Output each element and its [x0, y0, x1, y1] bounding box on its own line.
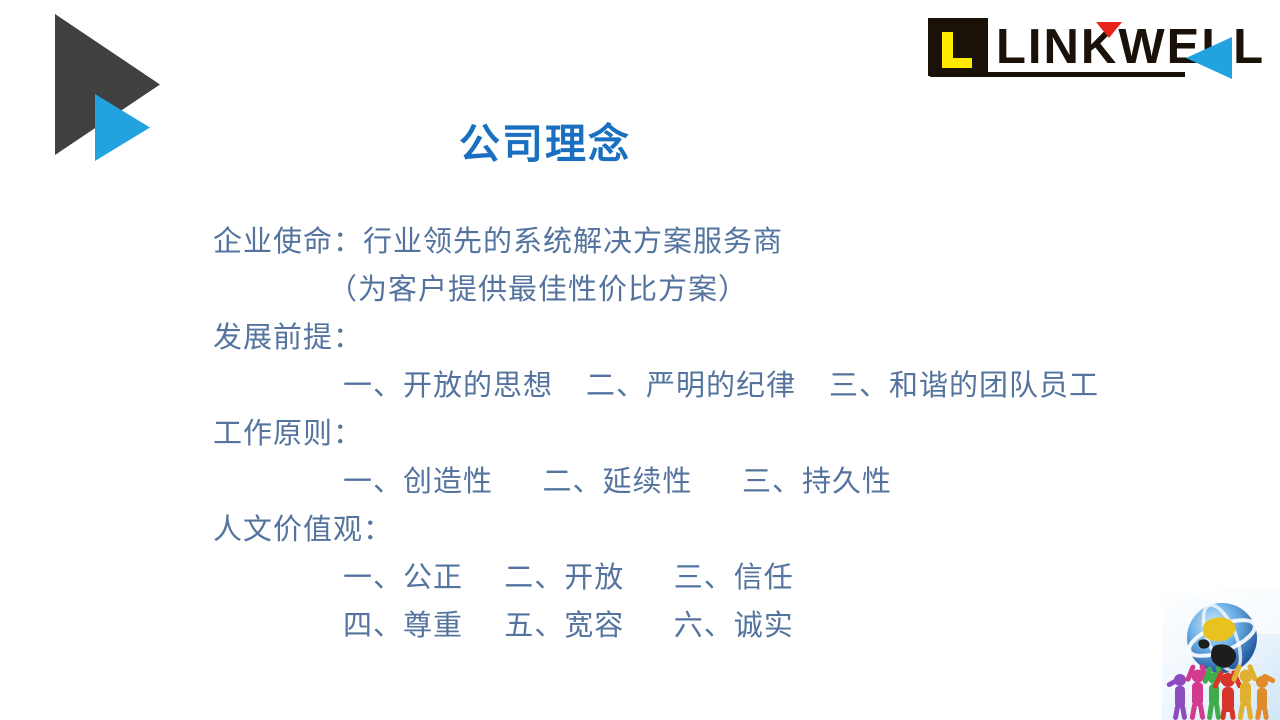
- logo-l-glyph-icon: [942, 32, 972, 68]
- content-line: 四、尊重 五、宽容 六、诚实: [213, 602, 1213, 650]
- logo-mark-square: [928, 18, 988, 76]
- content-line: 一、公正 二、开放 三、信任: [213, 554, 1213, 602]
- content-body: 企业使命：行业领先的系统解决方案服务商 （为客户提供最佳性价比方案） 发展前提：…: [213, 218, 1213, 650]
- teamwork-globe-icon: [1162, 588, 1280, 720]
- linkwell-logo: LINKWELL: [928, 12, 1240, 84]
- content-line: （为客户提供最佳性价比方案）: [213, 266, 1213, 314]
- content-line: 一、创造性 二、延续性 三、持久性: [213, 458, 1213, 506]
- content-line: 工作原则：: [213, 410, 1213, 458]
- logo-underline-rule: [930, 72, 1185, 77]
- slide-canvas: LINKWELL 公司理念 企业使命：行业领先的系统解决方案服务商 （为客户提供…: [0, 0, 1280, 720]
- content-line: 一、开放的思想 二、严明的纪律 三、和谐的团队员工: [213, 362, 1213, 410]
- content-line: 人文价值观：: [213, 506, 1213, 554]
- content-line: 企业使命：行业领先的系统解决方案服务商: [213, 218, 1213, 266]
- page-title: 公司理念: [0, 110, 1090, 170]
- content-line: 发展前提：: [213, 314, 1213, 362]
